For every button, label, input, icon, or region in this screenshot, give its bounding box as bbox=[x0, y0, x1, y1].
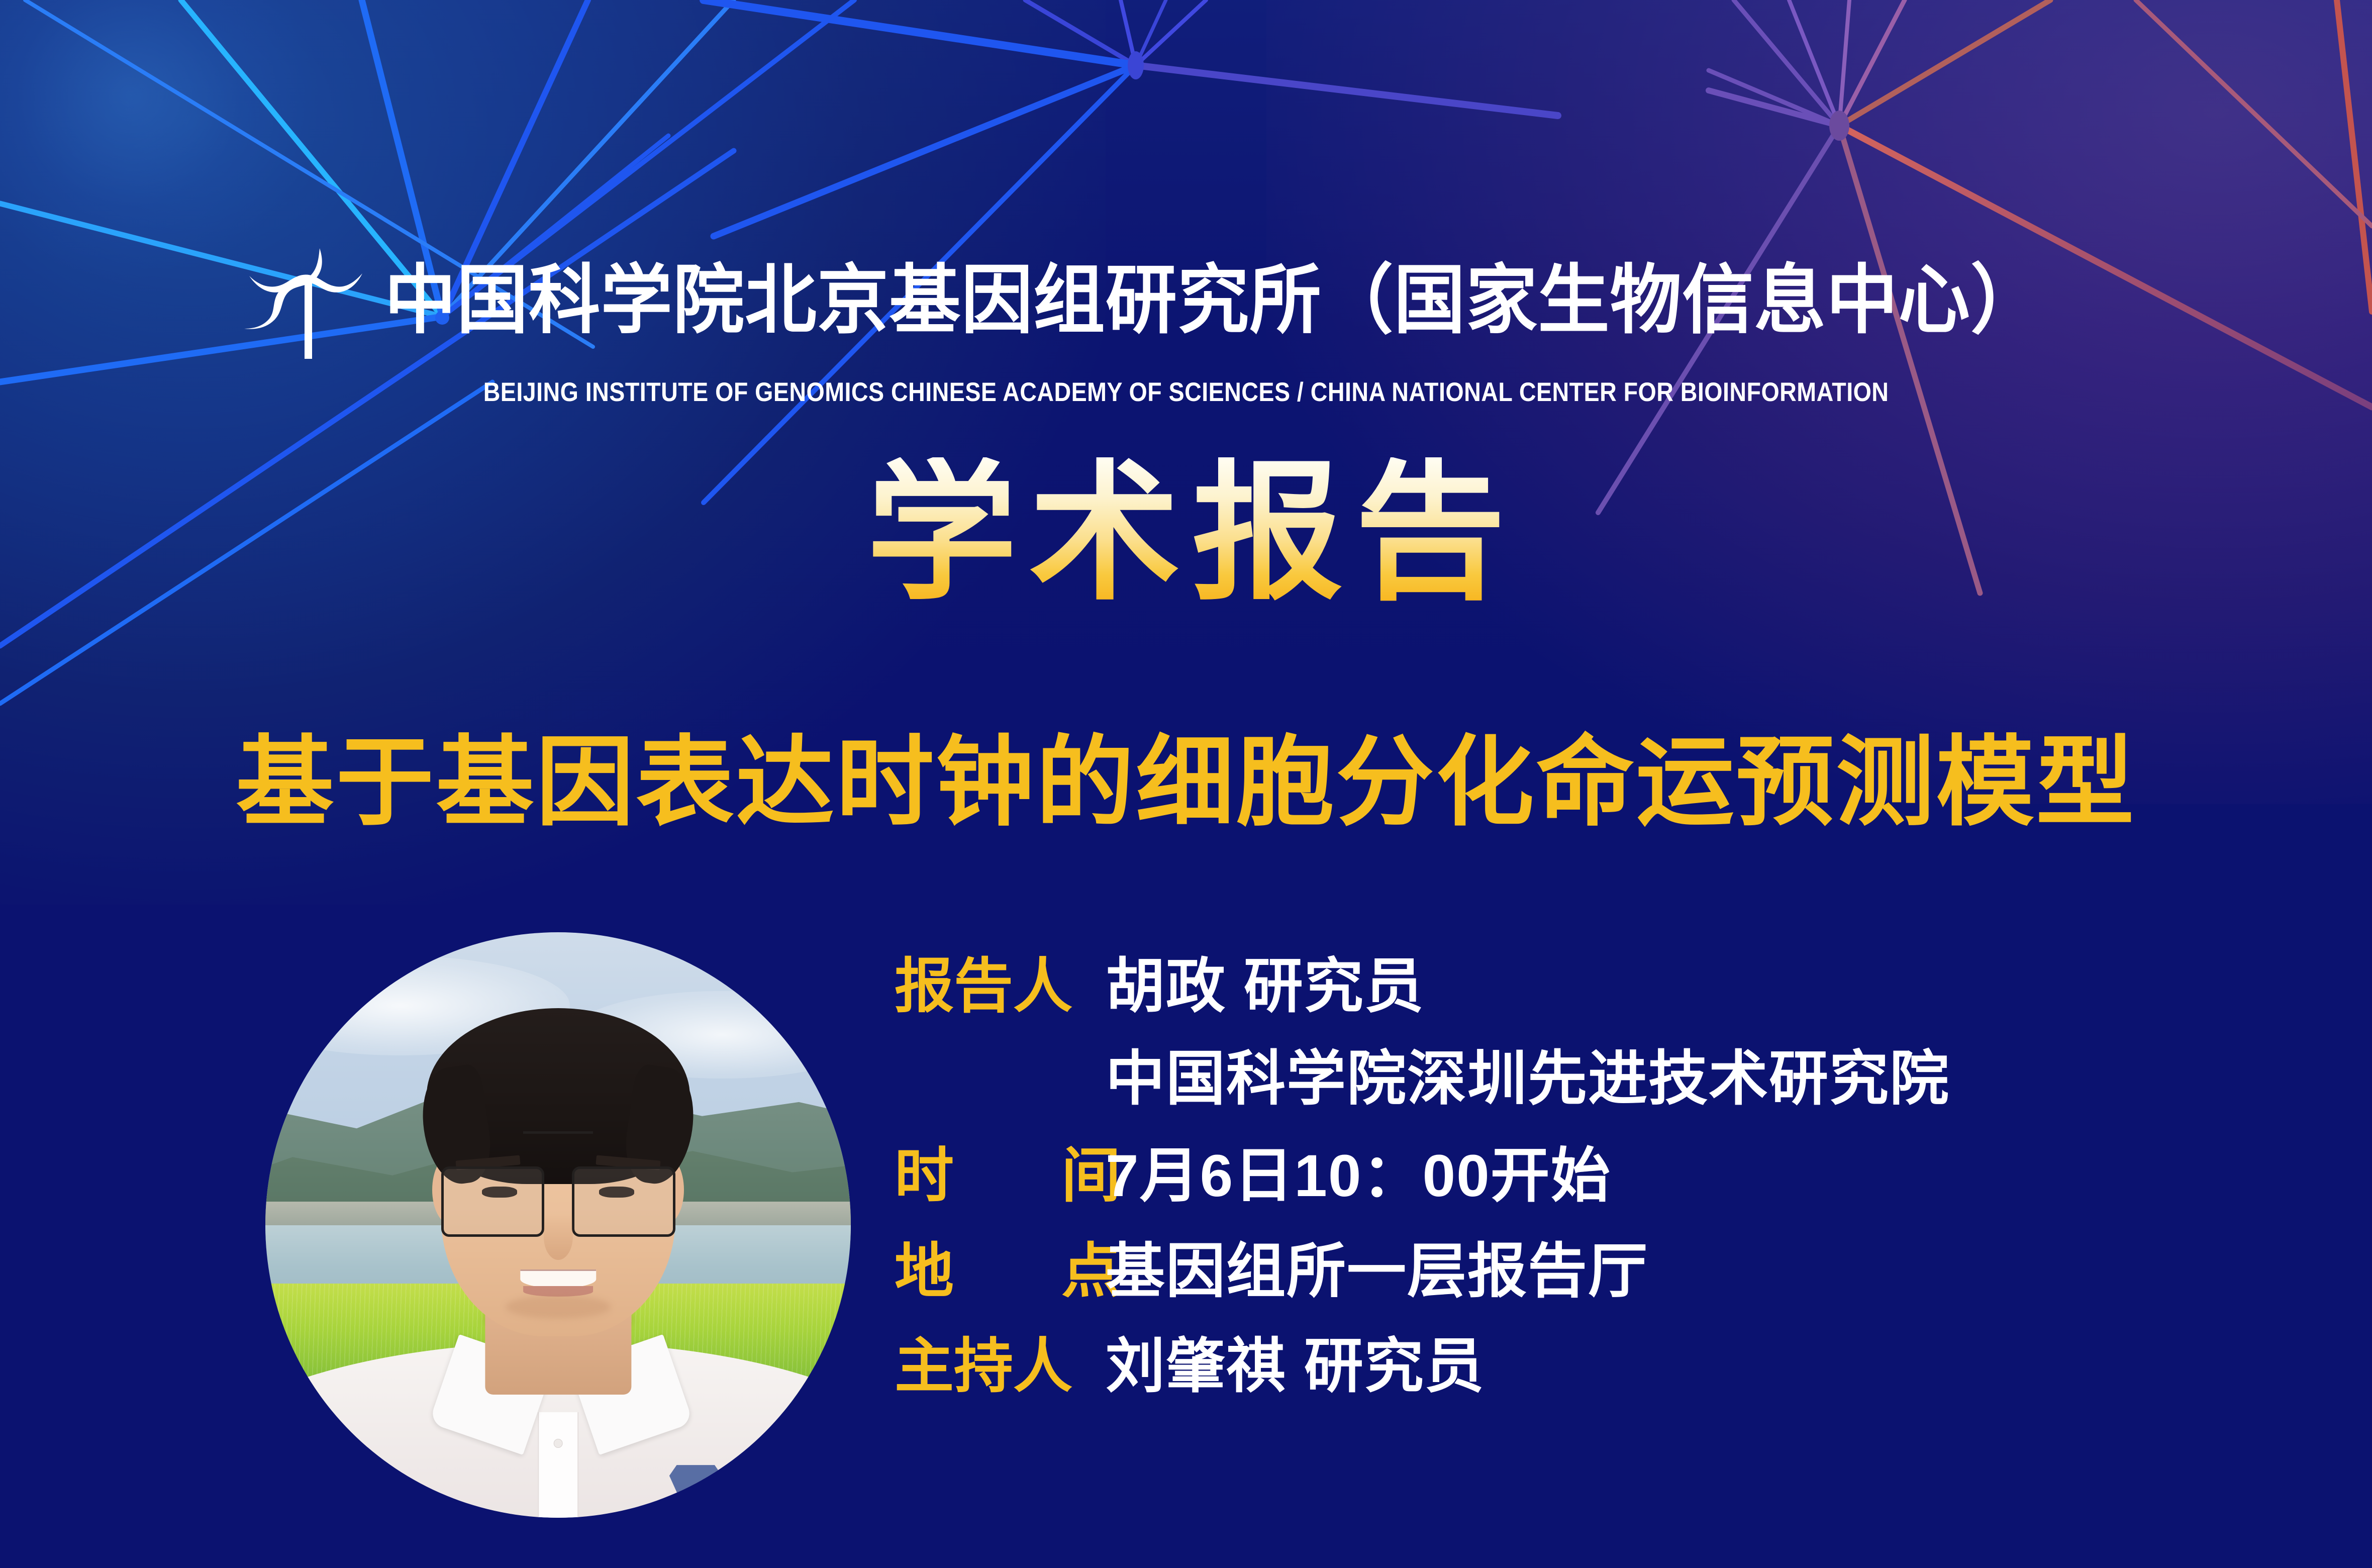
seminar-poster: 中国科学院北京基因组研究所（国家生物信息中心） BEIJING INSTITUT… bbox=[0, 0, 2372, 1568]
speaker-portrait bbox=[265, 932, 851, 1518]
detail-value-time: 7月6日10：00开始 bbox=[1106, 1134, 1611, 1219]
portrait-shirt-button bbox=[553, 1439, 563, 1448]
poster-header: 中国科学院北京基因组研究所（国家生物信息中心） BEIJING INSTITUT… bbox=[0, 236, 2372, 408]
detail-row-location: 地 点 基因组所一层报告厅 bbox=[895, 1230, 2327, 1314]
poster-subtitle: 基于基因表达时钟的细胞分化命运预测模型 bbox=[0, 731, 2372, 834]
cas-pinwheel-logo-icon bbox=[242, 238, 367, 364]
portrait-shirt-placket bbox=[538, 1412, 579, 1518]
detail-row-speaker: 报告人 胡政 研究员 bbox=[895, 945, 2327, 1029]
organization-name-cn: 中国科学院北京基因组研究所（国家生物信息中心） bbox=[384, 262, 2042, 338]
poster-main-title: 学术报告 bbox=[0, 457, 2372, 608]
portrait-lens-right bbox=[572, 1166, 675, 1237]
detail-value-location: 基因组所一层报告厅 bbox=[1106, 1230, 1648, 1314]
portrait-nose bbox=[543, 1213, 572, 1260]
detail-value-affiliation: 中国科学院深圳先进技术研究院 bbox=[1106, 1037, 1950, 1122]
detail-label-host: 主持人 bbox=[895, 1325, 1106, 1409]
detail-row-affiliation: 中国科学院深圳先进技术研究院 bbox=[1106, 1037, 2327, 1122]
detail-label-time: 时 间 bbox=[895, 1134, 1106, 1219]
detail-label-location: 地 点 bbox=[895, 1230, 1106, 1314]
detail-value-speaker: 胡政 研究员 bbox=[1106, 945, 1425, 1029]
organization-name-en: BEIJING INSTITUTE OF GENOMICS CHINESE AC… bbox=[483, 377, 1889, 408]
portrait-lens-left bbox=[441, 1166, 544, 1237]
detail-row-time: 时 间 7月6日10：00开始 bbox=[895, 1134, 2327, 1219]
detail-row-host: 主持人 刘肇祺 研究员 bbox=[895, 1325, 2327, 1409]
detail-label-speaker: 报告人 bbox=[895, 945, 1106, 1029]
portrait-chin-shadow bbox=[506, 1295, 611, 1319]
detail-value-host: 刘肇祺 研究员 bbox=[1106, 1325, 1485, 1409]
portrait-glasses-bridge bbox=[523, 1131, 594, 1134]
event-details: 报告人 胡政 研究员 中国科学院深圳先进技术研究院 时 间 7月6日10：00开… bbox=[895, 945, 2327, 1420]
header-row: 中国科学院北京基因组研究所（国家生物信息中心） bbox=[242, 236, 2130, 364]
